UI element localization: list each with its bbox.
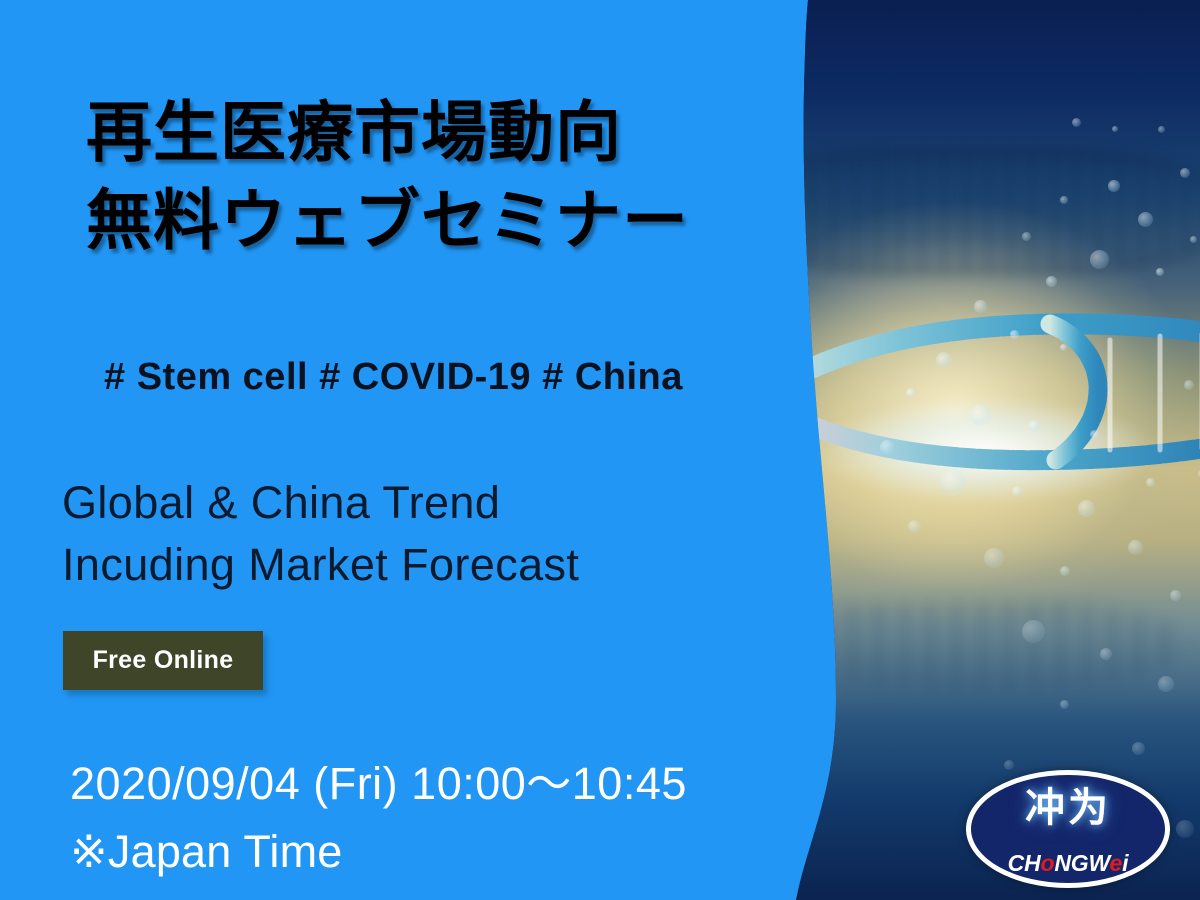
- event-date-time-line: 2020/09/04 (Fri) 10:00〜10:45: [70, 750, 687, 818]
- logo-letter-i: i: [1122, 850, 1128, 876]
- chongwei-logo: 冲为 CHoNGWei: [966, 770, 1170, 888]
- title-line-1: 再生医療市場動向: [86, 88, 746, 176]
- event-datetime: 2020/09/04 (Fri) 10:00〜10:45 ※Japan Time: [70, 750, 687, 886]
- logo-chinese-name: 冲为: [966, 786, 1170, 830]
- logo-latin-name: CHoNGWei: [966, 850, 1170, 876]
- page-title: 再生医療市場動向 無料ウェブセミナー: [86, 88, 746, 264]
- hashtag-line: # Stem cell # COVID-19 # China: [104, 356, 683, 399]
- helix-strands: [760, 300, 1200, 480]
- subtitle-line-1: Global & China Trend: [62, 472, 579, 534]
- logo-letters-ch: CH: [1008, 850, 1041, 876]
- event-timezone-note: ※Japan Time: [70, 818, 687, 886]
- background-helix-blur-lower-icon: [770, 600, 1190, 690]
- title-line-2: 無料ウェブセミナー: [86, 176, 746, 264]
- free-online-badge-label: Free Online: [93, 646, 234, 675]
- free-online-badge: Free Online: [63, 631, 263, 690]
- subtitle: Global & China Trend Incuding Market For…: [62, 472, 579, 596]
- webinar-poster: 再生医療市場動向 無料ウェブセミナー # Stem cell # COVID-1…: [0, 0, 1200, 900]
- logo-letter-o: o: [1040, 850, 1054, 876]
- background-helix-blur-icon: [760, 150, 1200, 274]
- subtitle-line-2: Incuding Market Forecast: [62, 534, 579, 596]
- dna-double-helix-icon: [760, 300, 1200, 600]
- logo-letter-e: e: [1110, 850, 1123, 876]
- logo-letters-ngw: NGW: [1054, 850, 1109, 876]
- dna-helix-artwork: [760, 0, 1200, 900]
